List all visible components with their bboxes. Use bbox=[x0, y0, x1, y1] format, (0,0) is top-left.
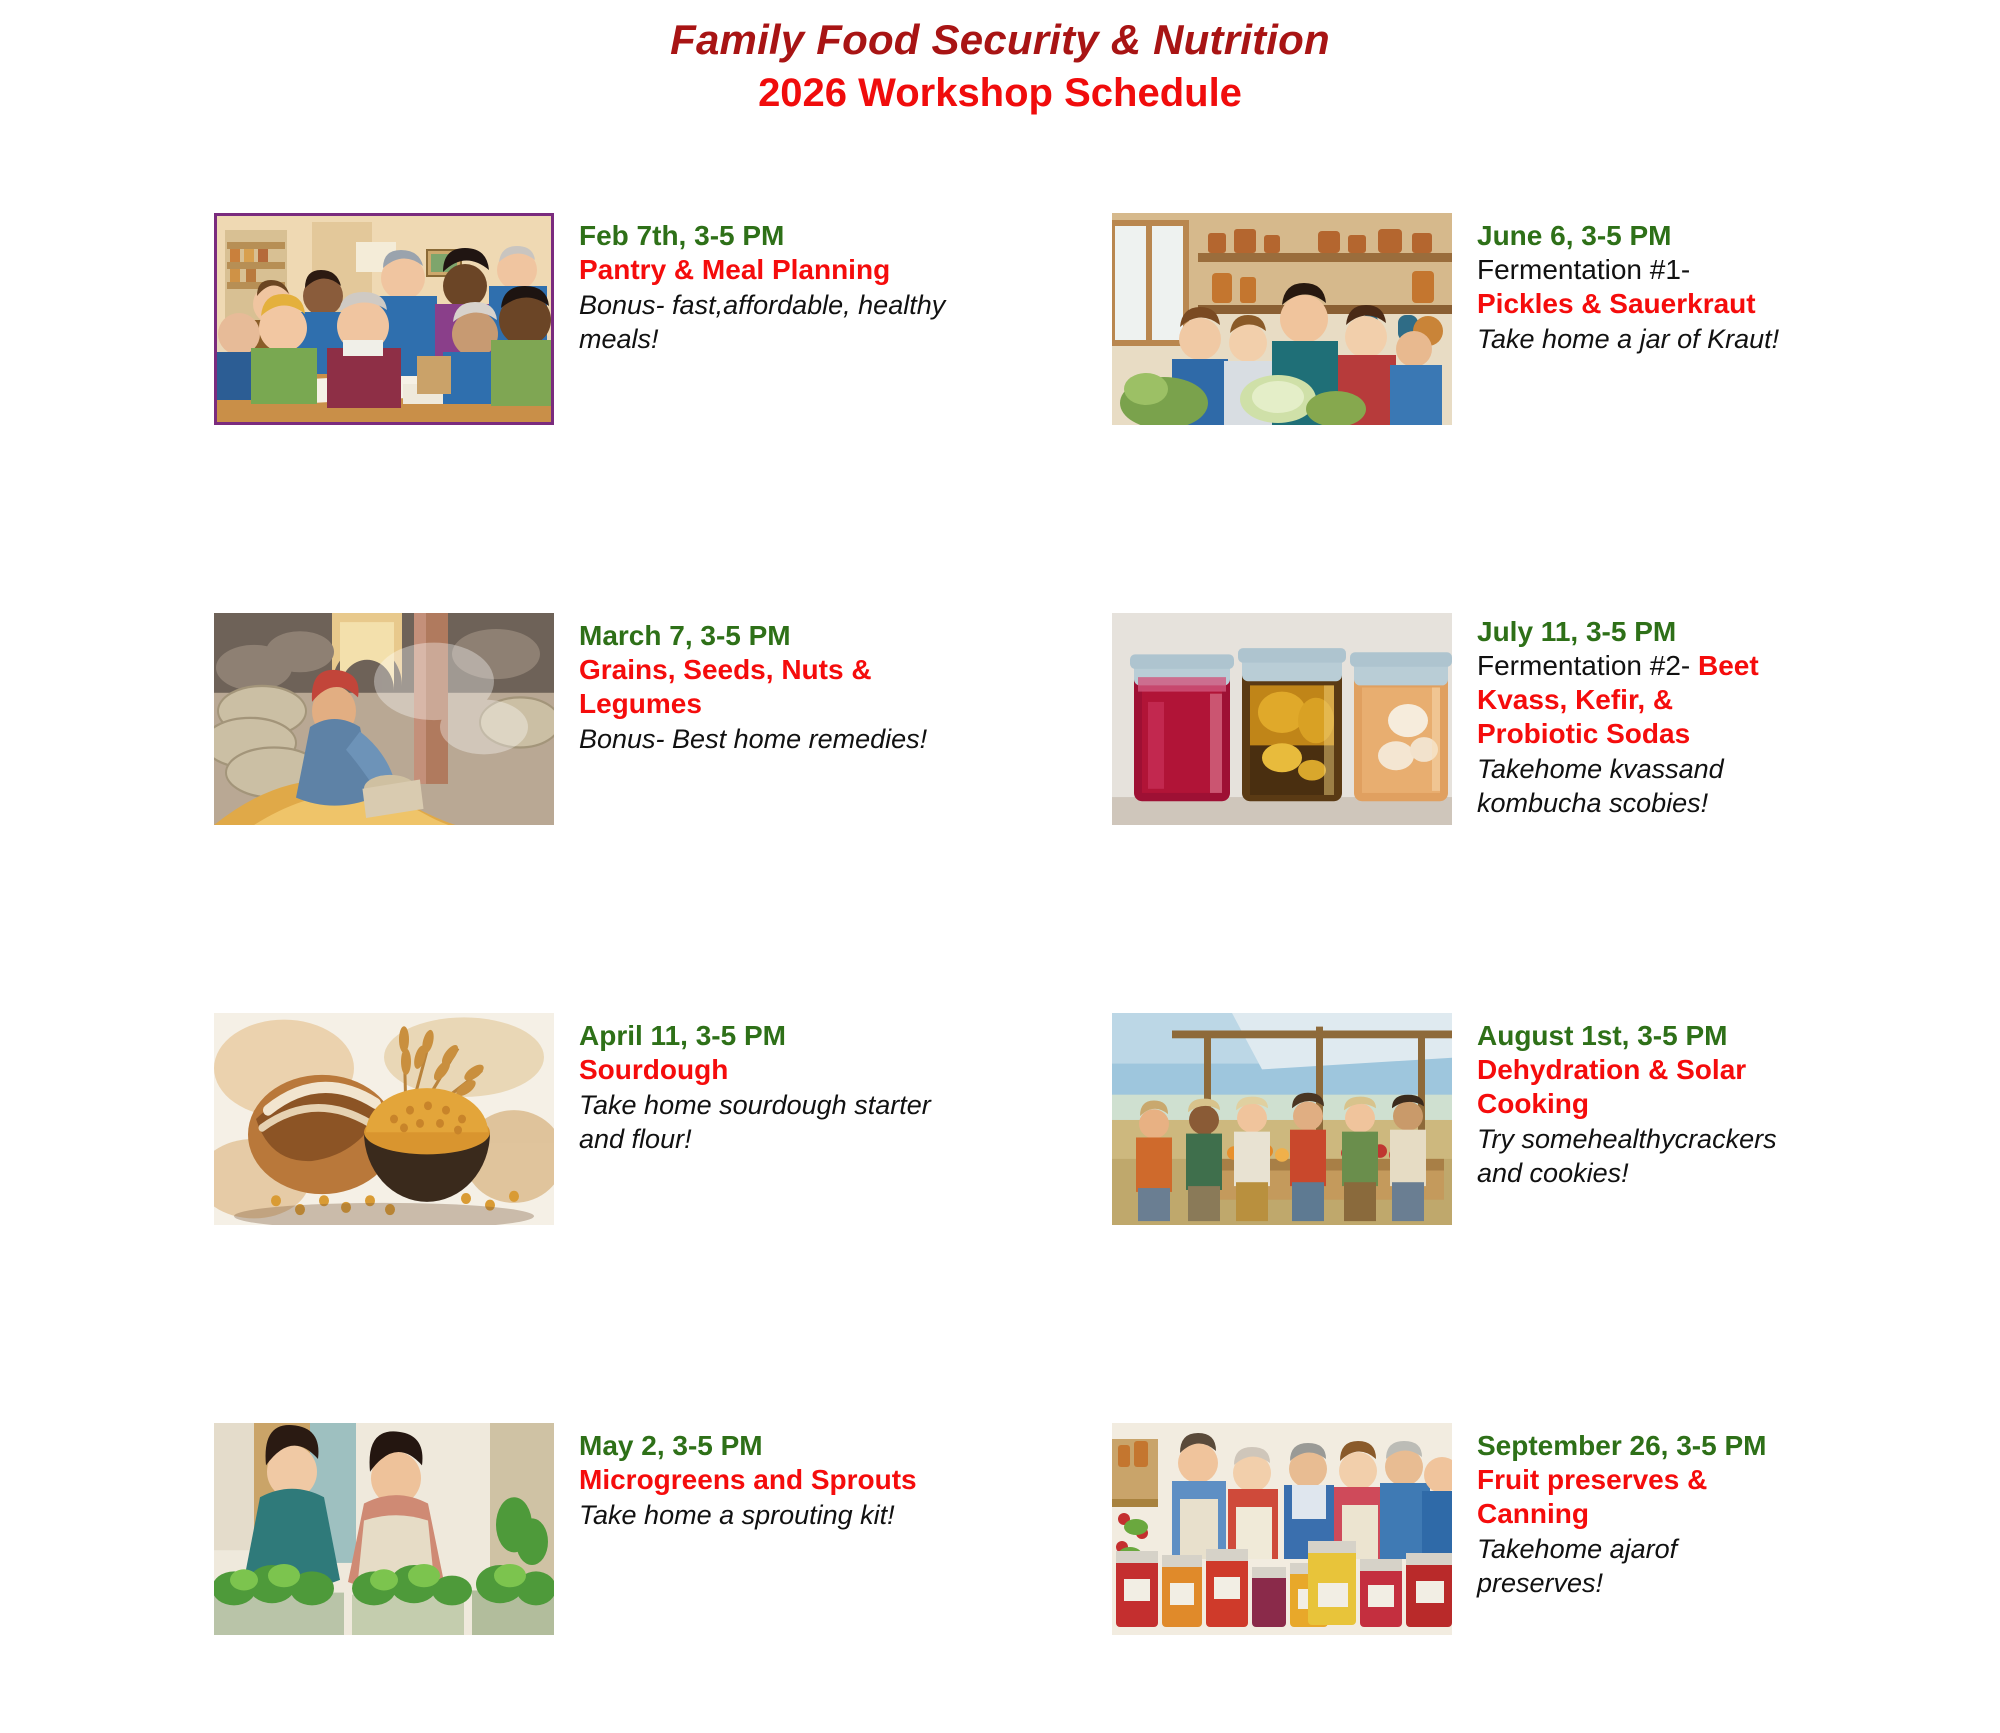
fermented-jars-photo bbox=[1112, 613, 1452, 825]
workshop-date: Feb 7th, 3-5 PM bbox=[579, 219, 950, 253]
workshop-note: Take home sourdough starter and flour! bbox=[579, 1088, 950, 1157]
workshop-card[interactable]: July 11, 3-5 PM Fermentation #2- Beet Kv… bbox=[1050, 613, 1786, 923]
workshop-note: Takehome kvassand kombucha scobies! bbox=[1477, 752, 1786, 821]
workshop-details: April 11, 3-5 PM Sourdough Take home sou… bbox=[554, 1013, 950, 1156]
workshop-details: September 26, 3-5 PM Fruit preserves & C… bbox=[1452, 1423, 1786, 1600]
workshop-title: Fermentation #2- Beet Kvass, Kefir, & Pr… bbox=[1477, 649, 1786, 751]
workshop-note: Take home a sprouting kit! bbox=[579, 1498, 950, 1532]
workshop-date: April 11, 3-5 PM bbox=[579, 1019, 950, 1053]
workshop-card[interactable]: September 26, 3-5 PM Fruit preserves & C… bbox=[1050, 1423, 1786, 1733]
workshop-details: Feb 7th, 3-5 PM Pantry & Meal Planning B… bbox=[554, 213, 950, 356]
workshop-title-highlight: Microgreens and Sprouts bbox=[579, 1464, 917, 1495]
workshop-details: July 11, 3-5 PM Fermentation #2- Beet Kv… bbox=[1452, 613, 1786, 820]
workshop-details: June 6, 3-5 PM Fermentation #1- Pickles … bbox=[1452, 213, 1786, 356]
workshop-title: Pantry & Meal Planning bbox=[579, 253, 950, 287]
workshop-note: Try somehealthycrackers and cookies! bbox=[1477, 1122, 1786, 1191]
workshop-date: June 6, 3-5 PM bbox=[1477, 219, 1786, 253]
workshop-date: August 1st, 3-5 PM bbox=[1477, 1019, 1786, 1053]
solar-cooking-market-photo bbox=[1112, 1013, 1452, 1225]
workshop-title: Microgreens and Sprouts bbox=[579, 1463, 950, 1497]
workshop-title: Fruit preserves & Canning bbox=[1477, 1463, 1786, 1531]
workshop-date: July 11, 3-5 PM bbox=[1477, 615, 1786, 649]
workshop-title-highlight: Fruit preserves & Canning bbox=[1477, 1464, 1707, 1529]
workshop-title-prefix: Fermentation #1- bbox=[1477, 254, 1690, 285]
workshop-title-highlight: Pickles & Sauerkraut bbox=[1477, 288, 1756, 319]
workshop-title-highlight: Sourdough bbox=[579, 1054, 728, 1085]
pantry-meal-planning-group-photo bbox=[214, 213, 554, 425]
page-subtitle: 2026 Workshop Schedule bbox=[0, 69, 2000, 117]
workshop-schedule-grid: Feb 7th, 3-5 PM Pantry & Meal Planning B… bbox=[0, 213, 2000, 1733]
fermentation-kitchen-photo bbox=[1112, 213, 1452, 425]
workshop-card[interactable]: Feb 7th, 3-5 PM Pantry & Meal Planning B… bbox=[214, 213, 950, 523]
workshop-title: Dehydration & Solar Cooking bbox=[1477, 1053, 1786, 1121]
workshop-card[interactable]: June 6, 3-5 PM Fermentation #1- Pickles … bbox=[1050, 213, 1786, 523]
workshop-card[interactable]: May 2, 3-5 PM Microgreens and Sprouts Ta… bbox=[214, 1423, 950, 1733]
sourdough-bread-photo bbox=[214, 1013, 554, 1225]
workshop-note: Take home a jar of Kraut! bbox=[1477, 322, 1786, 356]
workshop-title: Fermentation #1- Pickles & Sauerkraut bbox=[1477, 253, 1786, 321]
workshop-title: Sourdough bbox=[579, 1053, 950, 1087]
workshop-card[interactable]: March 7, 3-5 PM Grains, Seeds, Nuts & Le… bbox=[214, 613, 950, 923]
workshop-details: March 7, 3-5 PM Grains, Seeds, Nuts & Le… bbox=[554, 613, 950, 756]
workshop-title-highlight: Pantry & Meal Planning bbox=[579, 254, 890, 285]
workshop-details: August 1st, 3-5 PM Dehydration & Solar C… bbox=[1452, 1013, 1786, 1190]
workshop-details: May 2, 3-5 PM Microgreens and Sprouts Ta… bbox=[554, 1423, 950, 1532]
workshop-title-highlight: Dehydration & Solar Cooking bbox=[1477, 1054, 1746, 1119]
workshop-date: May 2, 3-5 PM bbox=[579, 1429, 950, 1463]
workshop-title-prefix: Fermentation #2- bbox=[1477, 650, 1698, 681]
workshop-note: Bonus- fast,affordable, healthy meals! bbox=[579, 288, 950, 357]
workshop-card[interactable]: April 11, 3-5 PM Sourdough Take home sou… bbox=[214, 1013, 950, 1323]
workshop-note: Takehome ajarof preserves! bbox=[1477, 1532, 1786, 1601]
grains-winnowing-photo bbox=[214, 613, 554, 825]
microgreens-photo bbox=[214, 1423, 554, 1635]
workshop-date: March 7, 3-5 PM bbox=[579, 619, 950, 653]
page-title: Family Food Security & Nutrition bbox=[0, 16, 2000, 63]
canning-preserves-photo bbox=[1112, 1423, 1452, 1635]
workshop-title: Grains, Seeds, Nuts & Legumes bbox=[579, 653, 950, 721]
workshop-note: Bonus- Best home remedies! bbox=[579, 722, 950, 756]
page-header: Family Food Security & Nutrition 2026 Wo… bbox=[0, 0, 2000, 117]
workshop-card[interactable]: August 1st, 3-5 PM Dehydration & Solar C… bbox=[1050, 1013, 1786, 1323]
workshop-title-highlight: Grains, Seeds, Nuts & Legumes bbox=[579, 654, 872, 719]
workshop-date: September 26, 3-5 PM bbox=[1477, 1429, 1786, 1463]
